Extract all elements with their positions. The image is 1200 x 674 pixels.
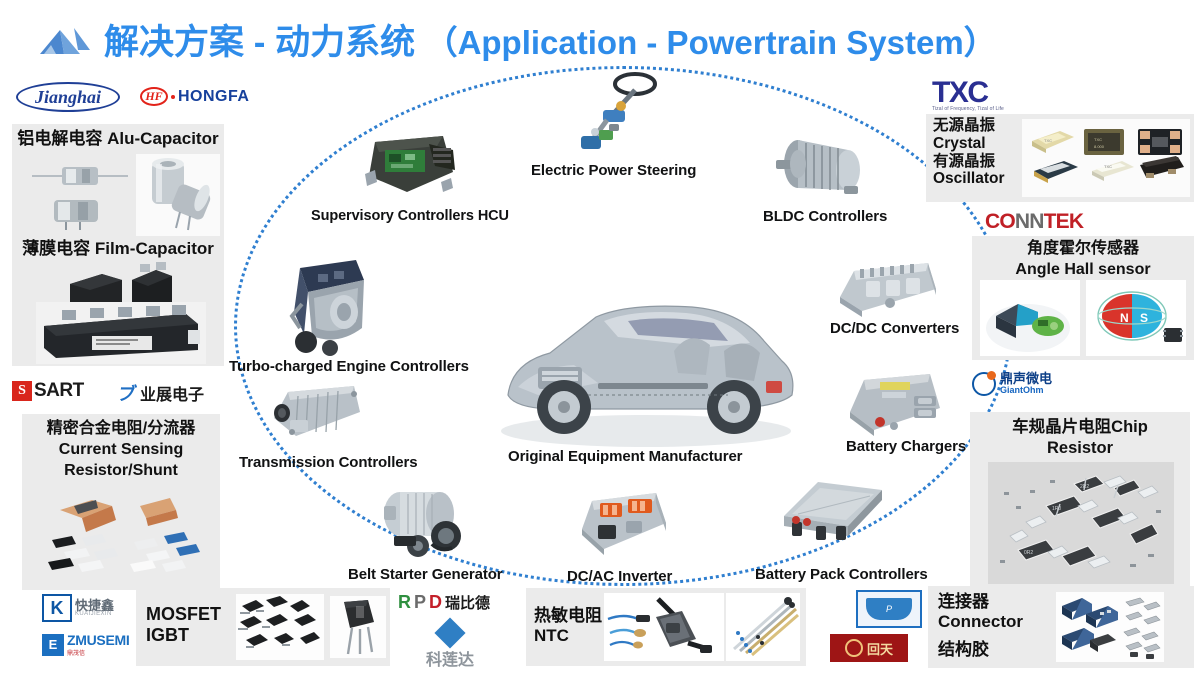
cutaway-car-icon: [478, 255, 808, 455]
rpd-logo-p: P: [414, 592, 426, 613]
yezhan-mark-icon: ブ: [115, 380, 139, 406]
panel-ntc-thermistor: 热敏电阻 NTC: [526, 588, 806, 666]
hongfa-mark-icon: HF: [140, 87, 168, 106]
steering-column-icon: [565, 70, 675, 162]
jianghai-logo-text: Jianghai: [16, 82, 120, 112]
brand-kelianda: 科莲达: [426, 622, 474, 670]
svg-text:8.000: 8.000: [1094, 144, 1105, 149]
kelianda-mark-icon: [434, 617, 465, 648]
node-label-dcdc-converters: DC/DC Converters: [830, 320, 959, 337]
panel-chip-resistor: 车规晶片电阻Chip Resistor: [970, 412, 1190, 590]
svg-text:TXC: TXC: [1094, 137, 1102, 142]
connector-labels: 连接器 Connector: [938, 592, 1023, 631]
node-label-transmission-controllers: Transmission Controllers: [239, 454, 417, 471]
starter-generator-icon: [370, 478, 478, 562]
panel-crystal-oscillator: 无源晶振 Crystal 有源晶振 Oscillator TXC TXC 8.0…: [926, 114, 1194, 202]
slide-header: 解决方案 - 动力系统 （Application - Powertrain Sy…: [0, 0, 1200, 72]
svg-text:TXC: TXC: [1104, 164, 1112, 169]
hall-sensor-heading-en: Angle Hall sensor: [972, 258, 1194, 279]
giantohm-logo-cn: 鼎声微电: [1000, 373, 1052, 385]
battery-charger-icon: [840, 368, 952, 442]
zmusemi-logo-cn: 鼎茂信: [67, 648, 129, 657]
hall-sensor-photo: N S: [980, 280, 1186, 356]
ecu-module-icon: [355, 128, 461, 200]
panel-capacitors: 铝电解电容 Alu-Capacitor: [12, 124, 224, 366]
ntc-label-cn: 热敏电阻: [534, 606, 602, 626]
chip-resistor-heading-en: Resistor: [970, 436, 1190, 457]
huitian-logo: 回天: [830, 634, 908, 662]
huitian-spiral-icon: [845, 639, 863, 657]
dcdc-converter-icon: [832, 253, 944, 323]
kuaijiexin-mark-icon: K: [42, 594, 72, 622]
adhesive-label-cn: 结构胶: [938, 640, 989, 660]
giantohm-logo-en: GiantOhm: [1000, 385, 1052, 395]
yezhan-logo-text: 业展电子: [140, 381, 204, 405]
conntek-logo-text: CONNTEK: [985, 210, 1083, 234]
svg-text:N: N: [1120, 311, 1129, 325]
connector-label-en: Connector: [938, 612, 1023, 632]
film-capacitor-heading: 薄膜电容 Film-Capacitor: [12, 236, 224, 258]
svg-text:TXC: TXC: [1044, 138, 1052, 143]
svg-text:2R2: 2R2: [1080, 484, 1089, 490]
crystal-oscillator-photo: TXC TXC 8.000: [1022, 119, 1190, 197]
hongfa-logo-text: HONGFA: [178, 88, 249, 106]
node-label-bldc-controllers: BLDC Controllers: [763, 208, 887, 225]
connector-photo: [1056, 592, 1164, 662]
brand-hongfa: HF HONGFA: [140, 87, 249, 106]
rpd-logo-r: R: [398, 592, 411, 613]
panel-mosfet-igbt: MOSFET IGBT: [136, 588, 390, 666]
shunt-resistor-photo: [34, 486, 210, 586]
mosfet-package-photo: [236, 594, 324, 660]
svg-text:1R0: 1R0: [1052, 506, 1061, 512]
sart-logo-text: SART: [34, 380, 84, 402]
triangles-logo-icon: [38, 24, 96, 60]
node-label-turbo-charged-engine-controllers: Turbo-charged Engine Controllers: [229, 358, 469, 375]
chip-resistor-photo: 2R2 1R0 0R2: [988, 462, 1174, 584]
giantohm-mark-icon: [972, 372, 996, 396]
svg-text:0R2: 0R2: [1024, 550, 1033, 556]
crystal-lines: 无源晶振 Crystal 有源晶振 Oscillator: [933, 117, 1005, 188]
igbt-label: IGBT: [146, 625, 221, 646]
brand-giantohm: 鼎声微电 GiantOhm: [972, 372, 1052, 396]
brand-rpd: R P D 瑞比德: [398, 592, 490, 613]
page-title-cn: 解决方案 - 动力系统: [104, 23, 415, 62]
current-sensing-heading-en1: Current Sensing: [22, 438, 220, 459]
brand-zmusemi: E ZMUSEMI 鼎茂信: [42, 632, 129, 657]
zmusemi-logo-text: ZMUSEMI: [67, 632, 129, 648]
node-label-battery-chargers: Battery Chargers: [846, 438, 966, 455]
engine-icon: [278, 250, 382, 362]
ntc-probe-photo: [726, 593, 800, 661]
igbt-package-photo: [330, 596, 386, 658]
brand-txc: TXC Tizal of Frequency, Tizal of Life: [932, 80, 1004, 112]
huitian-logo-cn: 回天: [867, 639, 893, 658]
brand-jianghai: Jianghai: [16, 82, 120, 112]
ntc-label-en: NTC: [534, 626, 602, 646]
connector-brand-inner: P: [866, 598, 912, 620]
chip-resistor-heading-cn: 车规晶片电阻Chip: [970, 412, 1190, 436]
sart-mark-icon: S: [12, 381, 32, 401]
hall-sensor-heading-cn: 角度霍尔传感器: [972, 236, 1194, 258]
center-node-label: Original Equipment Manufacturer: [508, 448, 742, 465]
slide-canvas: 解决方案 - 动力系统 （Application - Powertrain Sy…: [0, 0, 1200, 674]
brand-sart: S SART: [12, 380, 84, 402]
brand-conntek: CONNTEK: [985, 210, 1083, 234]
brand-yezhan: ブ 业展电子: [118, 380, 204, 406]
alu-capacitor-heading: 铝电解电容 Alu-Capacitor: [12, 124, 224, 148]
rpd-logo-d: D: [429, 592, 442, 613]
brand-huitian: 回天: [830, 634, 908, 662]
battery-pack-icon: [774, 468, 892, 548]
kelianda-logo-cn: 科莲达: [426, 646, 474, 670]
panel-current-sensing: 精密合金电阻/分流器 Current Sensing Resistor/Shun…: [22, 414, 220, 590]
node-label-dcac-inverter: DC/AC Inverter: [567, 568, 672, 585]
zmusemi-mark-icon: E: [42, 634, 64, 656]
node-label-supervisory-controllers-hcu: Supervisory Controllers HCU: [311, 208, 509, 224]
brand-connector: P: [856, 590, 922, 628]
film-capacitor-module-photo: [36, 302, 206, 364]
node-label-belt-starter-generator: Belt Starter Generator: [348, 566, 503, 583]
rpd-logo-cn: 瑞比德: [445, 592, 490, 613]
current-sensing-heading-en2: Resistor/Shunt: [22, 459, 220, 480]
hongfa-dot-icon: [171, 95, 175, 99]
ntc-labels: 热敏电阻 NTC: [534, 606, 602, 645]
page-title: 解决方案 - 动力系统 （Application - Powertrain Sy…: [104, 14, 997, 65]
bldc-motor-icon: [772, 130, 870, 208]
ntc-thermistor-photo: [604, 593, 724, 661]
txc-logo-text: TXC: [932, 80, 1004, 106]
giantohm-dot-icon: [987, 371, 996, 380]
alu-capacitor-photo: [28, 156, 138, 234]
page-title-en: （Application - Powertrain System）: [425, 24, 997, 61]
brand-kuaijiexin: K 快捷鑫 KUAIJIEXIN: [42, 594, 114, 622]
connector-label-cn: 连接器: [938, 592, 1023, 612]
kuaijiexin-logo-cn: 快捷鑫: [75, 600, 114, 611]
alu-capacitor-can-photo: [136, 154, 220, 236]
mosfet-igbt-labels: MOSFET IGBT: [146, 604, 221, 645]
connector-brand-mark-icon: P: [856, 590, 922, 628]
panel-angle-hall-sensor: 角度霍尔传感器 Angle Hall sensor N S: [972, 236, 1194, 360]
txc-tagline: Tizal of Frequency, Tizal of Life: [932, 106, 1004, 112]
mosfet-label: MOSFET: [146, 604, 221, 625]
node-label-battery-pack-controllers: Battery Pack Controllers: [755, 566, 928, 583]
current-sensing-heading-cn: 精密合金电阻/分流器: [22, 414, 220, 438]
kuaijiexin-logo-en: KUAIJIEXIN: [75, 611, 114, 617]
node-label-electric-power-steering: Electric Power Steering: [531, 162, 696, 179]
transmission-ecu-icon: [262, 380, 368, 446]
panel-connector-adhesive: 连接器 Connector 结构胶: [928, 586, 1194, 668]
inverter-icon: [570, 485, 676, 561]
